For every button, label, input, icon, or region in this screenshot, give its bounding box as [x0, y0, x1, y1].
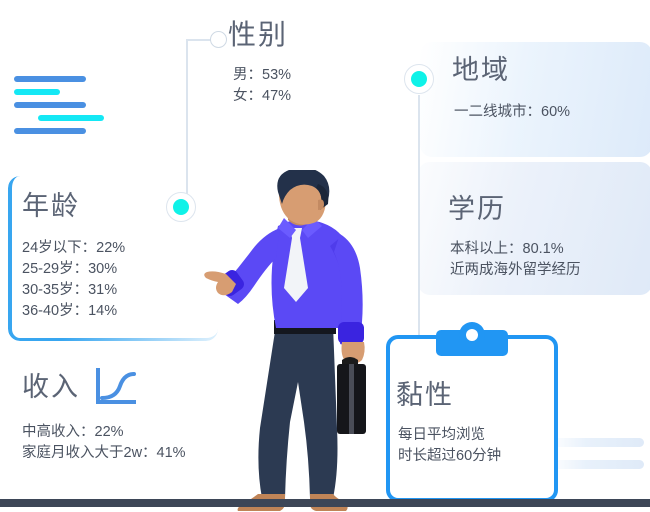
gender-section: 性别 男：53% 女：47%: [228, 21, 291, 107]
gender-connector-vertical: [186, 39, 188, 198]
briefcase-stripe: [349, 364, 354, 434]
stickiness-line: 时长超过60分钟: [398, 446, 501, 467]
age-line: 30-35岁：31%: [22, 280, 125, 301]
income-section: 收入 中高收入：22% 家庭月收入大于2w：41%: [22, 368, 186, 464]
age-line: 24岁以下：22%: [22, 238, 125, 259]
education-title: 学历: [448, 196, 581, 223]
line-chart-icon: [94, 368, 136, 406]
clipboard-knob: [459, 322, 485, 348]
education-section: 学历 本科以上：80.1% 近两成海外留学经历: [448, 196, 581, 281]
age-lines: 24岁以下：22% 25-29岁：30% 30-35岁：31% 36-40岁：1…: [22, 238, 125, 322]
gender-line: 男：53%: [233, 65, 291, 86]
region-line: 一二线城市：60%: [454, 102, 570, 123]
education-line: 近两成海外留学经历: [450, 260, 581, 281]
age-title: 年龄: [22, 193, 125, 220]
floor-strip: [0, 499, 650, 507]
region-lines: 一二线城市：60%: [452, 102, 570, 123]
education-lines: 本科以上：80.1% 近两成海外留学经历: [448, 239, 581, 281]
income-line: 家庭月收入大于2w：41%: [22, 443, 186, 464]
income-header: 收入: [22, 368, 186, 406]
region-node-icon[interactable]: [404, 64, 434, 94]
age-line: 36-40岁：14%: [22, 301, 125, 322]
education-line: 本科以上：80.1%: [450, 239, 581, 260]
income-title: 收入: [22, 374, 80, 401]
decorative-bar: [14, 89, 60, 95]
gender-lines: 男：53% 女：47%: [228, 65, 291, 107]
income-lines: 中高收入：22% 家庭月收入大于2w：41%: [22, 422, 186, 464]
cuff-right: [338, 322, 364, 344]
gender-title: 性别: [228, 21, 291, 49]
decorative-faint-bar: [548, 460, 644, 469]
gender-line: 女：47%: [233, 86, 291, 107]
stickiness-line: 每日平均浏览: [398, 425, 501, 446]
businessman-illustration: [190, 170, 390, 512]
trousers: [258, 325, 337, 498]
gender-node-icon[interactable]: [210, 31, 227, 48]
infographic-canvas: 性别 男：53% 女：47% 地域 一二线城市：60% 学历 本科以上：80.1…: [0, 0, 650, 512]
stickiness-lines: 每日平均浏览 时长超过60分钟: [396, 425, 501, 467]
decorative-bar: [14, 102, 86, 108]
stickiness-section: 黏性 每日平均浏览 时长超过60分钟: [396, 382, 501, 467]
age-line: 25-29岁：30%: [22, 259, 125, 280]
stickiness-title: 黏性: [396, 382, 501, 409]
decorative-bars-group: [14, 76, 124, 132]
income-line: 中高收入：22%: [22, 422, 186, 443]
age-section: 年龄 24岁以下：22% 25-29岁：30% 30-35岁：31% 36-40…: [22, 193, 125, 322]
region-title: 地域: [452, 57, 570, 84]
region-section: 地域 一二线城市：60%: [452, 57, 570, 123]
decorative-bar: [38, 115, 104, 121]
decorative-bar: [14, 76, 86, 82]
decorative-bar: [14, 128, 86, 134]
gender-connector-horizontal: [186, 39, 212, 41]
decorative-faint-bar: [548, 438, 644, 447]
